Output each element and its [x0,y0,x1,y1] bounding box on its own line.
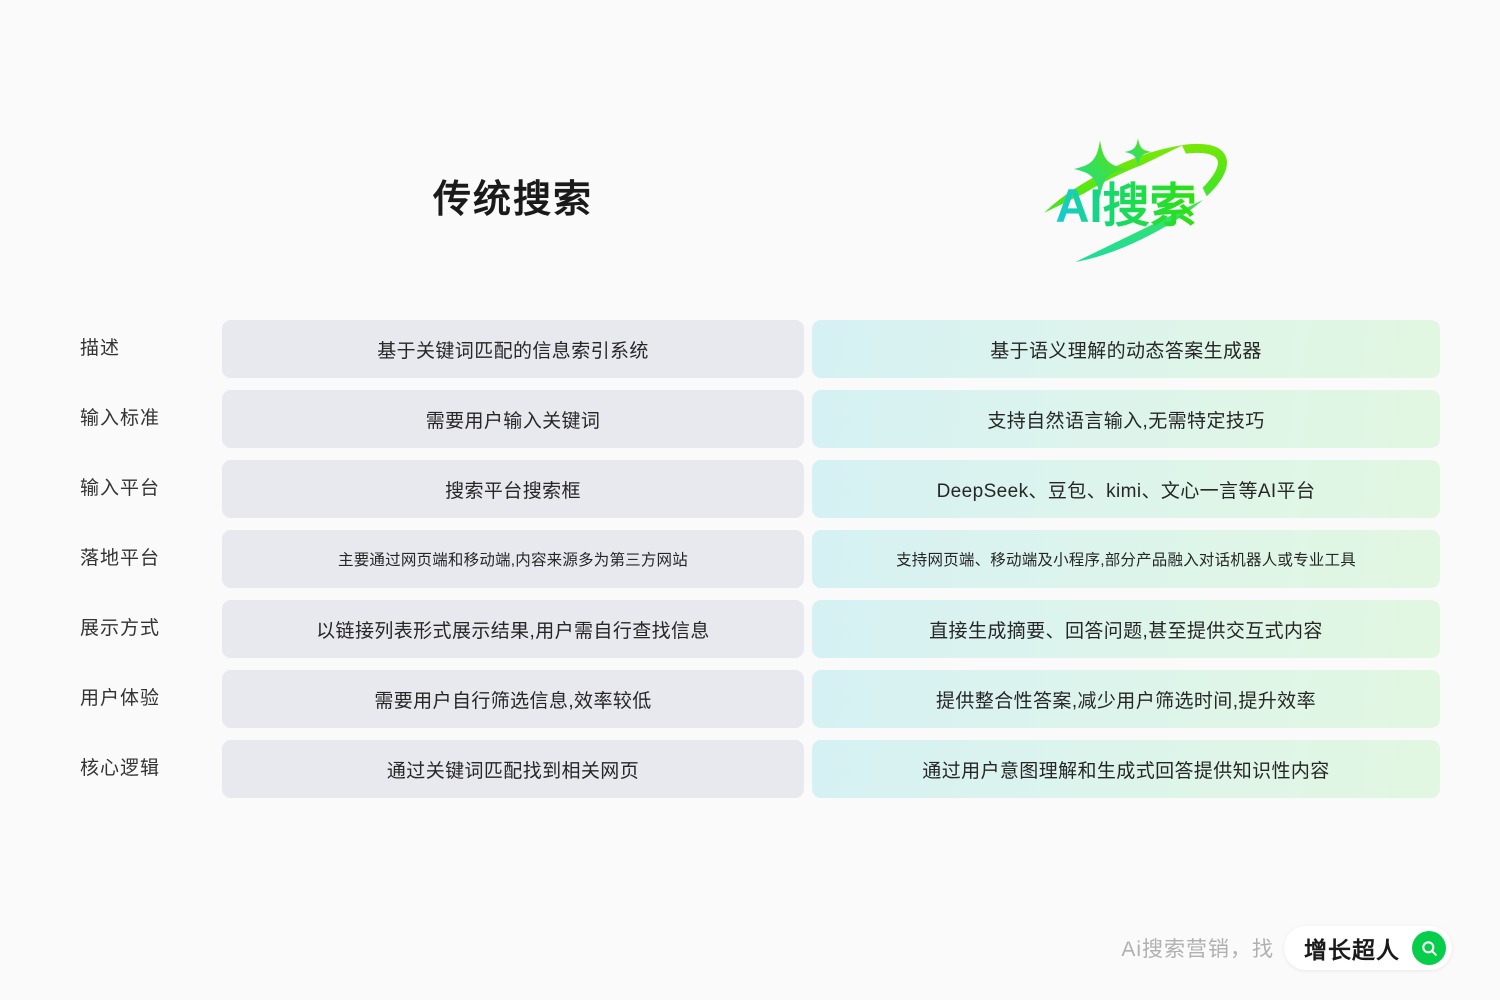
ai-cell: DeepSeek、豆包、kimi、文心一言等AI平台 [812,460,1440,518]
table-row: 用户体验需要用户自行筛选信息,效率较低提供整合性答案,减少用户筛选时间,提升效率 [0,670,1500,728]
traditional-cell: 需要用户自行筛选信息,效率较低 [222,670,804,728]
row-label: 用户体验 [80,688,210,711]
ai-cell: 通过用户意图理解和生成式回答提供知识性内容 [812,740,1440,798]
footer-branding: Ai搜索营销，找 增长超人 [1121,926,1452,970]
traditional-cell: 主要通过网页端和移动端,内容来源多为第三方网站 [222,530,804,588]
row-label: 输入标准 [80,408,210,431]
traditional-cell: 通过关键词匹配找到相关网页 [222,740,804,798]
ai-cell: 支持自然语言输入,无需特定技巧 [812,390,1440,448]
table-row: 描述基于关键词匹配的信息索引系统基于语义理解的动态答案生成器 [0,320,1500,378]
table-row: 展示方式以链接列表形式展示结果,用户需自行查找信息直接生成摘要、回答问题,甚至提… [0,600,1500,658]
comparison-table: 描述基于关键词匹配的信息索引系统基于语义理解的动态答案生成器输入标准需要用户输入… [0,320,1500,810]
slide-canvas: 传统搜索 [0,0,1500,1000]
ai-search-logo-text: AI搜索 [1056,179,1197,232]
ai-cell: 支持网页端、移动端及小程序,部分产品融入对话机器人或专业工具 [812,530,1440,588]
ai-cell: 基于语义理解的动态答案生成器 [812,320,1440,378]
table-row: 落地平台主要通过网页端和移动端,内容来源多为第三方网站支持网页端、移动端及小程序… [0,530,1500,588]
row-label: 描述 [80,338,210,361]
traditional-cell: 需要用户输入关键词 [222,390,804,448]
traditional-cell: 基于关键词匹配的信息索引系统 [222,320,804,378]
table-row: 核心逻辑通过关键词匹配找到相关网页通过用户意图理解和生成式回答提供知识性内容 [0,740,1500,798]
row-label: 落地平台 [80,548,210,571]
table-row: 输入平台搜索平台搜索框DeepSeek、豆包、kimi、文心一言等AI平台 [0,460,1500,518]
sparkle-orbit-icon: AI搜索 [996,118,1256,278]
ai-cell: 直接生成摘要、回答问题,甚至提供交互式内容 [812,600,1440,658]
search-icon[interactable] [1412,931,1446,965]
ai-search-logo: AI搜索 [812,118,1440,288]
traditional-cell: 以链接列表形式展示结果,用户需自行查找信息 [222,600,804,658]
row-label: 展示方式 [80,618,210,641]
headers-area: 传统搜索 [0,0,1500,310]
row-label: 核心逻辑 [80,758,210,781]
brand-name: 增长超人 [1304,931,1400,965]
traditional-cell: 搜索平台搜索框 [222,460,804,518]
row-label: 输入平台 [80,478,210,501]
footer-slogan: Ai搜索营销，找 [1121,933,1274,963]
brand-pill[interactable]: 增长超人 [1284,926,1452,970]
table-row: 输入标准需要用户输入关键词支持自然语言输入,无需特定技巧 [0,390,1500,448]
ai-cell: 提供整合性答案,减少用户筛选时间,提升效率 [812,670,1440,728]
ai-search-logo-graphic: AI搜索 [996,118,1256,278]
traditional-search-title: 传统搜索 [222,178,804,224]
